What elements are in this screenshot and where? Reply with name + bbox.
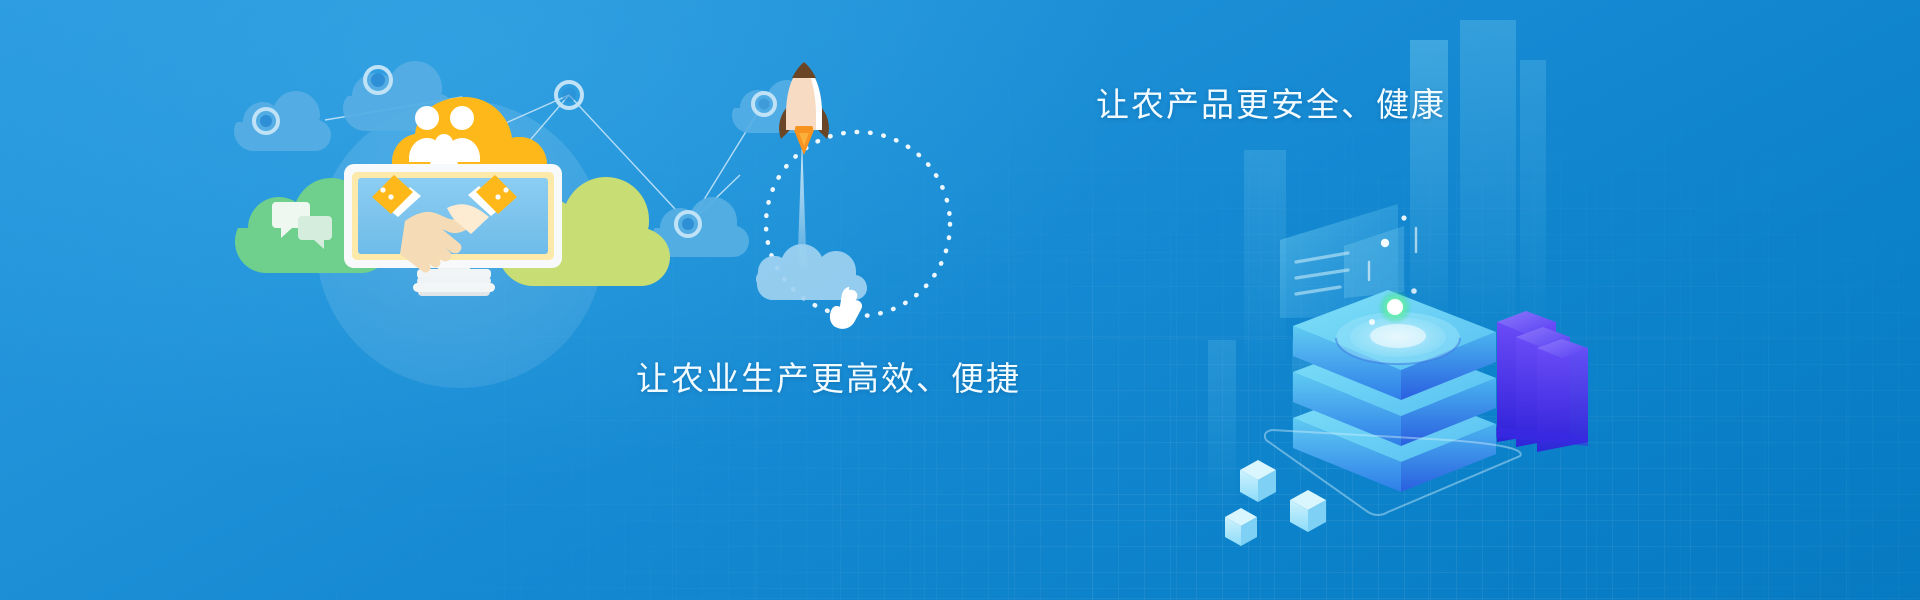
cloud-node-left-icon [234,91,331,151]
node-ring-top-icon [365,67,391,93]
banner-root: 让农产品更安全、健康 让农业生产更高效、便捷 [0,0,1920,600]
bar-chart-icon [1493,311,1588,452]
cloud-plain-icon [498,177,670,286]
handshake-glyph [372,175,517,273]
cloud-node-mid-icon [652,197,749,257]
node-ring-center-icon [556,82,582,108]
cloud-node-top-icon [343,61,455,131]
smoke-cloud-icon [756,244,867,300]
ground-outline [1265,430,1521,515]
background-grid [0,0,1920,600]
monitor-handshake-icon [344,164,562,296]
radar-disc-icon [1336,312,1460,364]
node-ring-mid-icon [676,212,700,236]
node-ring-rocket-icon [753,93,775,115]
tagline-production: 让农业生产更高效、便捷 [636,352,1021,400]
hologram-panel-icon [1280,204,1417,323]
dotted-orbit-icon [766,132,950,316]
floating-cube-icon [1225,460,1326,546]
hand-pointer-icon [825,284,868,333]
slab-bottom [1293,382,1496,492]
cloud-users-icon [392,97,547,191]
network-links [325,95,763,224]
rocket-icon [779,62,829,155]
slab-top [1293,290,1496,400]
server-stack-icon [1290,290,1496,492]
cloud-node-rocket-icon [732,80,819,133]
monitor-halo-circle [316,100,604,388]
slab-middle [1293,336,1496,446]
node-ring-left-icon [254,109,278,133]
status-dot-icon [1378,290,1412,324]
rocket-trail-icon [798,138,808,268]
background-grid-major [0,0,1920,600]
tagline-product: 让农产品更安全、健康 [1096,78,1446,126]
center-illustration [0,0,1920,600]
cloud-chat-icon [235,178,387,273]
right-illustration [0,0,1920,600]
left-illustration [0,0,1920,600]
